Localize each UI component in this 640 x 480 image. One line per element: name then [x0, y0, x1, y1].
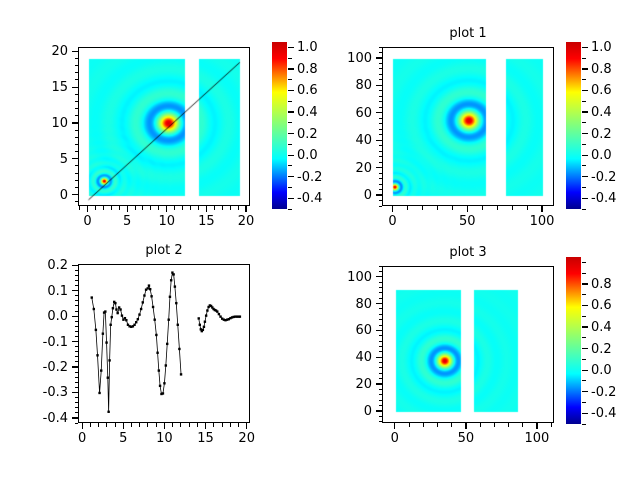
xticklabel: 0: [375, 432, 415, 445]
subplot-title: plot 3: [382, 246, 554, 259]
ytick-major: [376, 303, 382, 304]
ytick-minor: [379, 271, 383, 272]
colorbar-tick: [582, 283, 588, 284]
xtick-minor: [451, 423, 452, 427]
colorbar-tick: [582, 413, 588, 414]
colorbar-tick-minor: [582, 424, 586, 425]
colorbar-tick-minor: [582, 380, 586, 381]
yticklabel: 20: [320, 378, 372, 391]
ytick-major: [376, 276, 382, 277]
colorbar-ticklabel: 0.6: [591, 299, 612, 312]
colorbar-ticklabel: 0.0: [591, 364, 612, 377]
ytick-minor: [379, 394, 383, 395]
colorbar-ticklabel: -0.4: [591, 407, 616, 420]
colorbar-tick-minor: [582, 262, 586, 263]
ytick-minor: [379, 346, 383, 347]
ytick-major: [376, 410, 382, 411]
xtick-minor: [494, 423, 495, 427]
colorbar-tick: [582, 370, 588, 371]
ytick-minor: [379, 266, 383, 267]
ytick-minor: [379, 335, 383, 336]
ytick-minor: [379, 373, 383, 374]
xtick-minor: [551, 423, 552, 427]
colorbar-tick: [582, 348, 588, 349]
colorbar-ticklabel: 0.2: [591, 343, 612, 356]
ytick-minor: [379, 308, 383, 309]
ytick-minor: [379, 389, 383, 390]
ytick-minor: [379, 341, 383, 342]
ytick-minor: [379, 282, 383, 283]
xtick-minor: [508, 423, 509, 427]
yticklabel: 0: [320, 405, 372, 418]
ytick-minor: [379, 421, 383, 422]
colorbar-tick-minor: [582, 294, 586, 295]
ytick-minor: [379, 416, 383, 417]
yticklabel: 80: [320, 298, 372, 311]
figure-canvas: 05101520051015201.00.80.60.40.20.0-0.2-0…: [0, 0, 640, 480]
colorbar-tick-minor: [582, 316, 586, 317]
ytick-minor: [379, 378, 383, 379]
ytick-minor: [379, 319, 383, 320]
ytick-minor: [379, 351, 383, 352]
xtick-major: [536, 423, 537, 429]
xtick-minor: [522, 423, 523, 427]
xtick-minor: [437, 423, 438, 427]
ytick-minor: [379, 298, 383, 299]
ytick-major: [376, 383, 382, 384]
yticklabel: 100: [320, 271, 372, 284]
colorbar-tick: [582, 305, 588, 306]
ytick-minor: [379, 362, 383, 363]
xtick-major: [394, 423, 395, 429]
colorbar-ticklabel: -0.2: [591, 386, 616, 399]
ytick-major: [376, 330, 382, 331]
yticklabel: 60: [320, 324, 372, 337]
colorbar-ticklabel: 0.4: [591, 321, 612, 334]
ytick-minor: [379, 325, 383, 326]
xticklabel: 100: [517, 432, 557, 445]
axes-frame-plot3: [382, 266, 554, 423]
xtick-minor: [423, 423, 424, 427]
colorbar-tick: [582, 391, 588, 392]
ytick-major: [376, 357, 382, 358]
ytick-minor: [379, 405, 383, 406]
xticklabel: 50: [446, 432, 486, 445]
ytick-minor: [379, 292, 383, 293]
colorbar-plot3: [566, 257, 581, 424]
colorbar-tick: [582, 326, 588, 327]
yticklabel: 40: [320, 351, 372, 364]
ytick-minor: [379, 367, 383, 368]
colorbar-tick-minor: [582, 273, 586, 274]
colorbar-tick-minor: [582, 402, 586, 403]
colorbar-tick-minor: [582, 359, 586, 360]
ytick-minor: [379, 400, 383, 401]
xtick-minor: [480, 423, 481, 427]
colorbar-ticklabel: 0.8: [591, 278, 612, 291]
heatmap-image: [383, 267, 554, 423]
ytick-minor: [379, 314, 383, 315]
subplot-plot3: plot 30501000204060801000.80.60.40.20.0-…: [0, 0, 640, 480]
xtick-major: [465, 423, 466, 429]
xtick-minor: [409, 423, 410, 427]
ytick-minor: [379, 287, 383, 288]
colorbar-tick-minor: [582, 337, 586, 338]
